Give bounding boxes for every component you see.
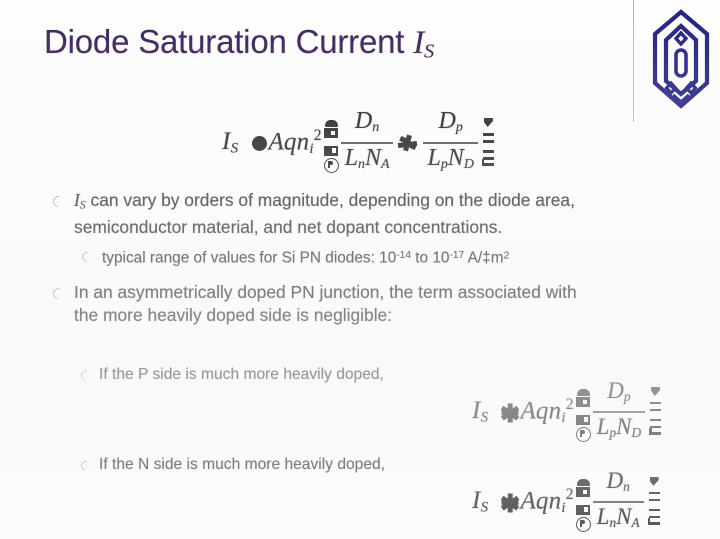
bullet-1-line-2: semiconductor material, and net dopant c… <box>74 216 694 239</box>
fraction-bar <box>593 411 645 413</box>
bullet-marker-icon <box>51 194 66 209</box>
fraction-numerator: Dp <box>593 378 645 410</box>
bullet-1-line-1: IS can vary by orders of magnitude, depe… <box>74 189 694 216</box>
university-hexagon-logo <box>651 9 711 111</box>
equation-coefficient: Aqni2 <box>520 486 573 517</box>
fraction-dn-over-ln-na: Dn LnNA <box>593 468 644 536</box>
bullet-2-line-2: the more heavily doped side is negligibl… <box>74 304 704 327</box>
fraction-bar <box>423 142 477 144</box>
bullet-1-sub: typical range of values for Si PN diodes… <box>102 245 682 269</box>
equation-p-side-heavily-doped: IS Aqni2 Dp LpND <box>472 378 663 446</box>
equation-n-side-heavily-doped: IS Aqni2 Dn LnNA <box>472 468 662 536</box>
bullet-marker-icon <box>80 250 93 263</box>
fraction-dn-over-ln-na: Dn LnNA <box>341 108 394 178</box>
fraction-bar <box>593 501 644 503</box>
corrupted-equals-glyph-icon <box>252 136 267 151</box>
equation-coefficient: Aqni2 <box>268 127 321 158</box>
fraction-dp-over-lp-nd: Dp LpND <box>423 108 477 178</box>
corrupted-left-bracket-glyph-icon <box>324 114 341 172</box>
bullet-2: In an asymmetrically doped PN junction, … <box>74 281 704 327</box>
equation-lhs: IS <box>222 128 238 158</box>
fraction-denominator: LnNA <box>341 145 394 178</box>
equation-coefficient: Aqni2 <box>520 396 573 427</box>
fraction-numerator: Dn <box>593 468 644 500</box>
slide-canvas: Diode Saturation Current IS IS Aqni2 Dn … <box>0 0 720 539</box>
equation-lhs: IS <box>472 487 488 517</box>
header-divider <box>633 0 634 122</box>
page-title: Diode Saturation Current IS <box>44 23 434 64</box>
bullet-2-line-1: In an asymmetrically doped PN junction, … <box>74 281 704 304</box>
bullet-marker-icon <box>51 286 66 301</box>
bullet-2-sub-1: If the P side is much more heavily doped… <box>99 364 499 385</box>
bullet-2-sub-2: If the N side is much more heavily doped… <box>99 454 499 475</box>
bullet-marker-icon <box>79 369 92 382</box>
bullet-marker-icon <box>79 459 92 472</box>
corrupted-left-bracket-glyph-icon <box>576 473 593 531</box>
fraction-numerator: Dn <box>341 108 394 141</box>
bullet-1: IS can vary by orders of magnitude, depe… <box>74 189 694 239</box>
corrupted-approx-equals-glyph-icon <box>500 492 519 514</box>
fraction-denominator: LpND <box>423 145 477 178</box>
corrupted-right-bracket-glyph-icon <box>482 114 496 172</box>
corrupted-left-bracket-glyph-icon <box>576 383 593 441</box>
equation-lhs: IS <box>472 397 488 427</box>
page-title-variable: IS <box>413 25 434 61</box>
fraction-bar <box>341 142 394 144</box>
page-title-text: Diode Saturation Current <box>44 23 413 60</box>
corrupted-right-bracket-glyph-icon <box>648 473 662 531</box>
corrupted-right-bracket-glyph-icon <box>649 383 663 441</box>
corrupted-plus-glyph-icon <box>398 134 418 152</box>
corrupted-approx-equals-glyph-icon <box>500 402 519 424</box>
fraction-denominator: LpND <box>593 414 645 446</box>
fraction-dp-over-lp-nd: Dp LpND <box>593 378 645 446</box>
variable-is: IS <box>74 190 86 210</box>
fraction-numerator: Dp <box>423 108 477 141</box>
fraction-denominator: LnNA <box>593 504 644 536</box>
equation-diode-saturation-current: IS Aqni2 Dn LnNA Dp LpND <box>222 108 496 178</box>
